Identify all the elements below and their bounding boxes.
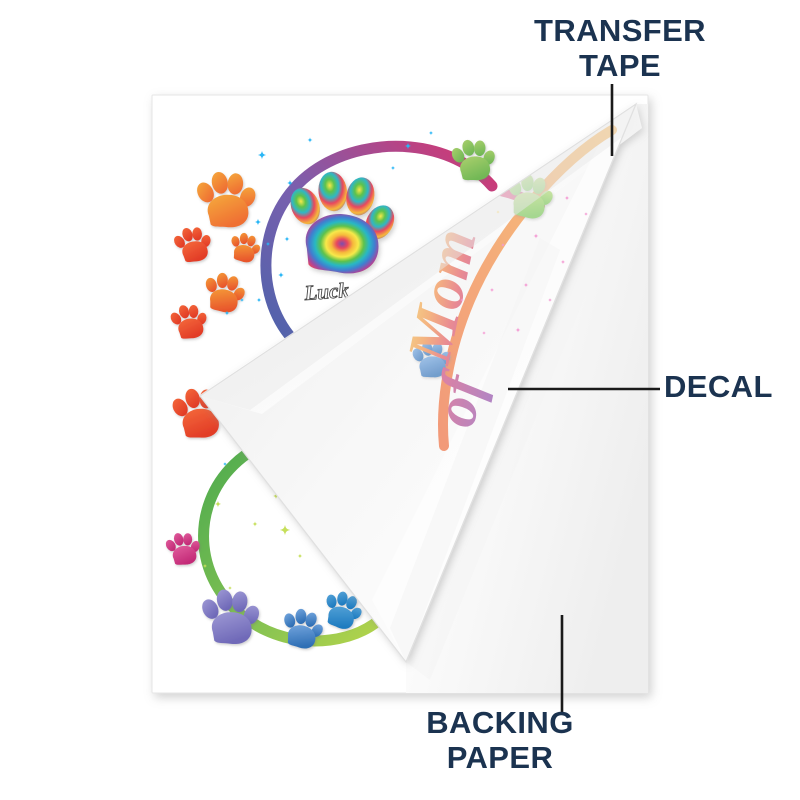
label-backing-paper: BACKING PAPER: [370, 706, 630, 775]
diagram-stage: Luck: [0, 0, 800, 800]
label-transfer-tape: TRANSFER TAPE: [500, 14, 740, 83]
label-decal: DECAL: [664, 370, 800, 405]
